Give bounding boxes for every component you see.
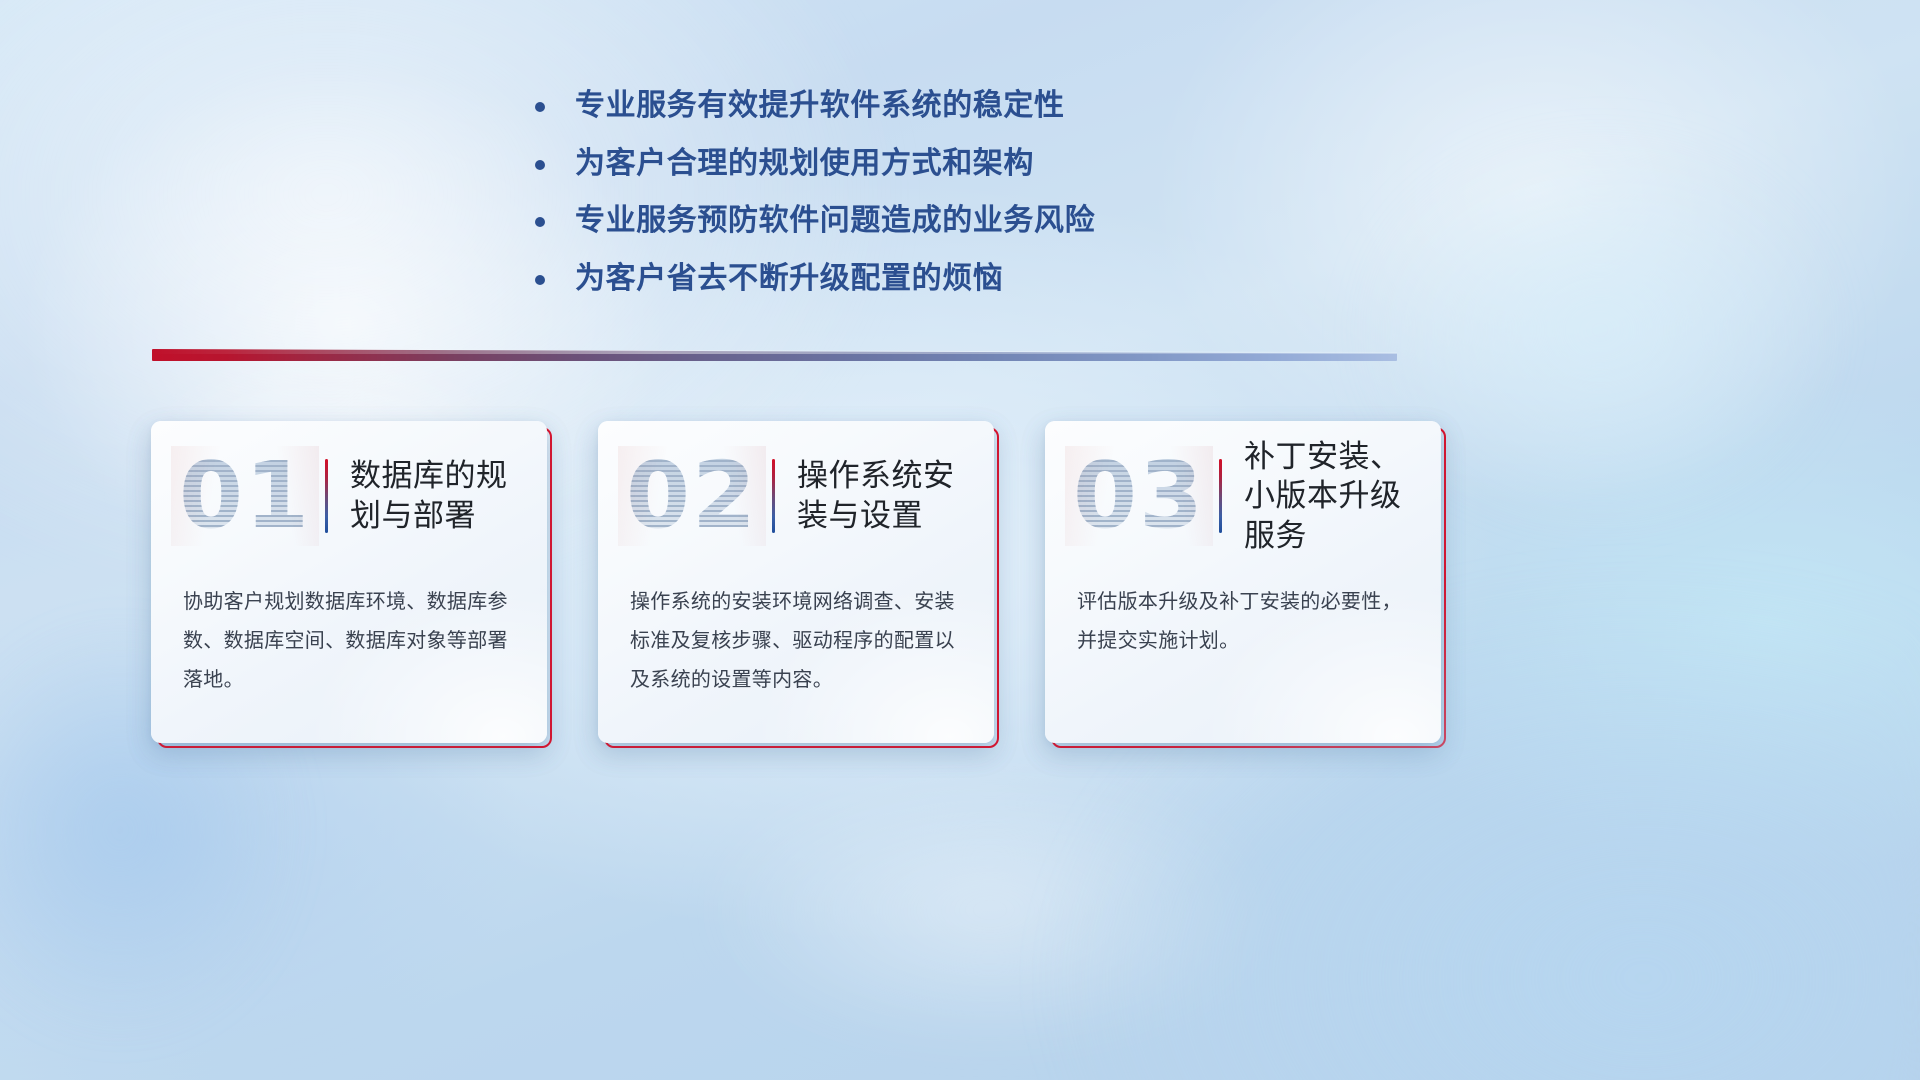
card-body-text: 操作系统的安装环境网络调查、安装标准及复核步骤、驱动程序的配置以及系统的设置等内… (630, 583, 964, 700)
slide-canvas: 专业服务有效提升软件系统的稳定性 为客户合理的规划使用方式和架构 专业服务预防软… (0, 0, 1920, 1080)
section-divider (152, 349, 1397, 361)
card-body-text: 协助客户规划数据库环境、数据库参数、数据库空间、数据库对象等部署落地。 (183, 583, 517, 700)
background-glow-bottom (680, 760, 1300, 1060)
bullet-text: 为客户省去不断升级配置的烦恼 (575, 261, 1003, 298)
card-title: 操作系统安装与设置 (797, 456, 994, 535)
card-header: 01 数据库的规划与部署 (151, 441, 547, 551)
bullet-text: 专业服务预防软件问题造成的业务风险 (575, 203, 1095, 240)
list-item: 为客户合理的规划使用方式和架构 (535, 146, 1235, 183)
divider-highlight (152, 349, 1397, 354)
service-card-02[interactable]: 02 操作系统安装与设置 操作系统的安装环境网络调查、安装标准及复核步骤、驱动程… (598, 421, 994, 743)
card-header: 03 补丁安装、小版本升级服务 (1045, 441, 1441, 551)
card-number-watermark: 02 (618, 446, 766, 546)
list-item: 专业服务有效提升软件系统的稳定性 (535, 88, 1235, 125)
card-number-text: 03 (1073, 450, 1205, 542)
bullet-text: 为客户合理的规划使用方式和架构 (575, 146, 1034, 183)
list-item: 为客户省去不断升级配置的烦恼 (535, 261, 1235, 298)
bullet-dot-icon (535, 275, 545, 285)
service-card-01[interactable]: 01 数据库的规划与部署 协助客户规划数据库环境、数据库参数、数据库空间、数据库… (151, 421, 547, 743)
card-number-watermark: 01 (171, 446, 319, 546)
title-divider-rule (325, 459, 328, 533)
bullet-dot-icon (535, 102, 545, 112)
bullet-dot-icon (535, 160, 545, 170)
bullet-dot-icon (535, 217, 545, 227)
card-title: 数据库的规划与部署 (350, 456, 547, 535)
bullet-list: 专业服务有效提升软件系统的稳定性 为客户合理的规划使用方式和架构 专业服务预防软… (535, 88, 1235, 318)
title-divider-rule (1219, 459, 1222, 533)
card-number-text: 01 (179, 450, 311, 542)
title-divider-rule (772, 459, 775, 533)
service-card-03[interactable]: 03 补丁安装、小版本升级服务 评估版本升级及补丁安装的必要性，并提交实施计划。 (1045, 421, 1441, 743)
card-row: 01 数据库的规划与部署 协助客户规划数据库环境、数据库参数、数据库空间、数据库… (0, 421, 1920, 743)
card-header: 02 操作系统安装与设置 (598, 441, 994, 551)
bullet-text: 专业服务有效提升软件系统的稳定性 (575, 88, 1065, 125)
card-number-watermark: 03 (1065, 446, 1213, 546)
card-number-text: 02 (626, 450, 758, 542)
card-title: 补丁安装、小版本升级服务 (1244, 437, 1441, 556)
card-body-text: 评估版本升级及补丁安装的必要性，并提交实施计划。 (1077, 583, 1411, 661)
list-item: 专业服务预防软件问题造成的业务风险 (535, 203, 1235, 240)
